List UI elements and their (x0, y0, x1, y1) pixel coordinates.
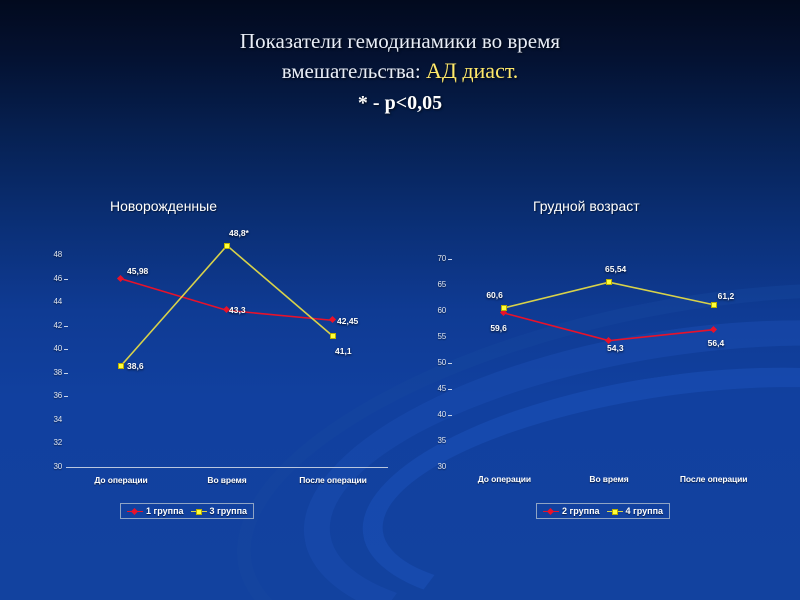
data-point-marker (118, 363, 124, 369)
legend-label: 3 группа (210, 506, 248, 516)
title-line-2: вмешательства: АД диаст. (0, 56, 800, 86)
data-point-label: 41,1 (335, 346, 352, 356)
chart-infants: 706560555045403530До операцииВо времяПос… (408, 245, 790, 530)
data-point-marker (330, 333, 336, 339)
chart-newborns: 48464442403836343230До операцииВо времяП… (20, 245, 400, 530)
slide-title-block: Показатели гемодинамики во время вмешате… (0, 26, 800, 120)
data-point-label: 38,6 (127, 361, 144, 371)
data-point-label: 61,2 (718, 291, 735, 301)
data-point-label: 56,4 (708, 338, 725, 348)
data-point-label: 54,3 (607, 343, 624, 353)
chart-legend[interactable]: 2 группа4 группа (536, 503, 670, 519)
data-point-label: 48,8* (229, 228, 249, 238)
data-point-label: 45,98 (127, 266, 148, 276)
title-accent-text: АД диаст. (426, 58, 518, 83)
series-line (121, 279, 333, 321)
legend-marker-icon (191, 508, 207, 515)
title-colon: : (415, 59, 421, 83)
legend-label: 2 группа (562, 506, 600, 516)
data-point-marker (711, 302, 717, 308)
plot-lines (408, 245, 790, 530)
legend-item[interactable]: 4 группа (607, 506, 664, 516)
slide-canvas: Показатели гемодинамики во время вмешате… (0, 0, 800, 600)
series-line (504, 282, 713, 308)
legend-marker-icon (127, 508, 143, 515)
data-point-label: 43,3 (229, 305, 246, 315)
chart-legend[interactable]: 1 группа3 группа (120, 503, 254, 519)
panel-header-right: Грудной возраст (533, 198, 640, 214)
data-point-label: 60,6 (486, 290, 503, 300)
data-point-label: 65,54 (605, 264, 626, 274)
panel-header-left: Новорожденные (110, 198, 217, 214)
data-point-marker (606, 279, 612, 285)
data-point-label: 42,45 (337, 316, 358, 326)
legend-label: 1 группа (146, 506, 184, 516)
data-point-marker (501, 305, 507, 311)
title-line-2-text: вмешательства (282, 59, 415, 83)
legend-label: 4 группа (626, 506, 664, 516)
data-point-label: 59,6 (490, 323, 507, 333)
plot-lines (20, 245, 400, 530)
legend-marker-icon (607, 508, 623, 515)
title-line-1: Показатели гемодинамики во время (0, 26, 800, 56)
legend-item[interactable]: 3 группа (191, 506, 248, 516)
data-point-marker (224, 243, 230, 249)
legend-item[interactable]: 1 группа (127, 506, 184, 516)
legend-marker-icon (543, 508, 559, 515)
title-pvalue: * - p<0,05 (0, 86, 800, 120)
legend-item[interactable]: 2 группа (543, 506, 600, 516)
